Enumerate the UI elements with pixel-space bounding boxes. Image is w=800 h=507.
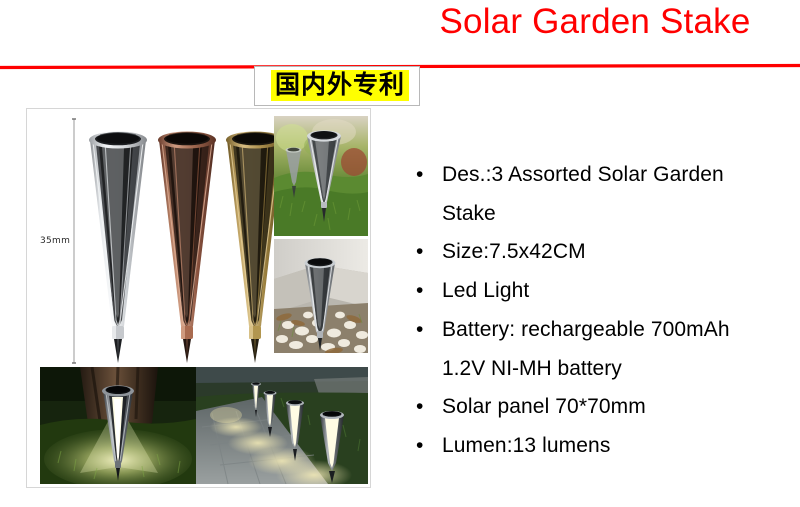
spec-text-battery-cont: 1.2V NI-MH battery [442, 350, 792, 388]
list-item: • Solar panel 70*70mm [412, 388, 792, 426]
list-item: • Size:7.5x42CM [412, 233, 792, 271]
patent-badge-label: 国内外专利 [271, 70, 409, 101]
spec-text-description: Des.:3 Assorted Solar Garden [442, 156, 724, 194]
spec-text-description-cont: Stake [442, 195, 792, 233]
list-item: • Lumen:13 lumens [412, 427, 792, 465]
slide-root: Solar Garden Stake 国内外专利 35mm [0, 0, 800, 507]
product-studio-photo: 35mm [28, 110, 272, 365]
list-item: • Des.:3 Assorted Solar Garden [412, 156, 792, 194]
spec-bullet-list: • Des.:3 Assorted Solar Garden Stake • S… [412, 156, 792, 466]
dimension-line [72, 117, 74, 365]
bullet-glyph: • [412, 427, 442, 465]
spec-text-solar-panel: Solar panel 70*70mm [442, 388, 646, 426]
dimension-label: 35mm [40, 236, 70, 246]
silver-stake [84, 114, 152, 364]
bullet-glyph: • [412, 311, 442, 349]
spec-text-battery: Battery: rechargeable 700mAh [442, 311, 730, 349]
photo-stakes-in-grass [274, 116, 368, 236]
spec-text-size: Size:7.5x42CM [442, 233, 586, 271]
photo-night-tree [40, 367, 196, 484]
bullet-glyph: • [412, 388, 442, 426]
copper-stake [153, 114, 221, 364]
list-item: • Led Light [412, 272, 792, 310]
list-item: • Battery: rechargeable 700mAh [412, 311, 792, 349]
spec-text-led: Led Light [442, 272, 529, 310]
photo-night-pathway [196, 367, 368, 484]
photo-stake-in-gravel [274, 239, 368, 353]
page-title: Solar Garden Stake [400, 2, 790, 42]
spec-text-lumen: Lumen:13 lumens [442, 427, 610, 465]
bullet-glyph: • [412, 233, 442, 271]
patent-badge-box: 国内外专利 [254, 66, 420, 106]
bullet-glyph: • [412, 156, 442, 194]
bullet-glyph: • [412, 272, 442, 310]
